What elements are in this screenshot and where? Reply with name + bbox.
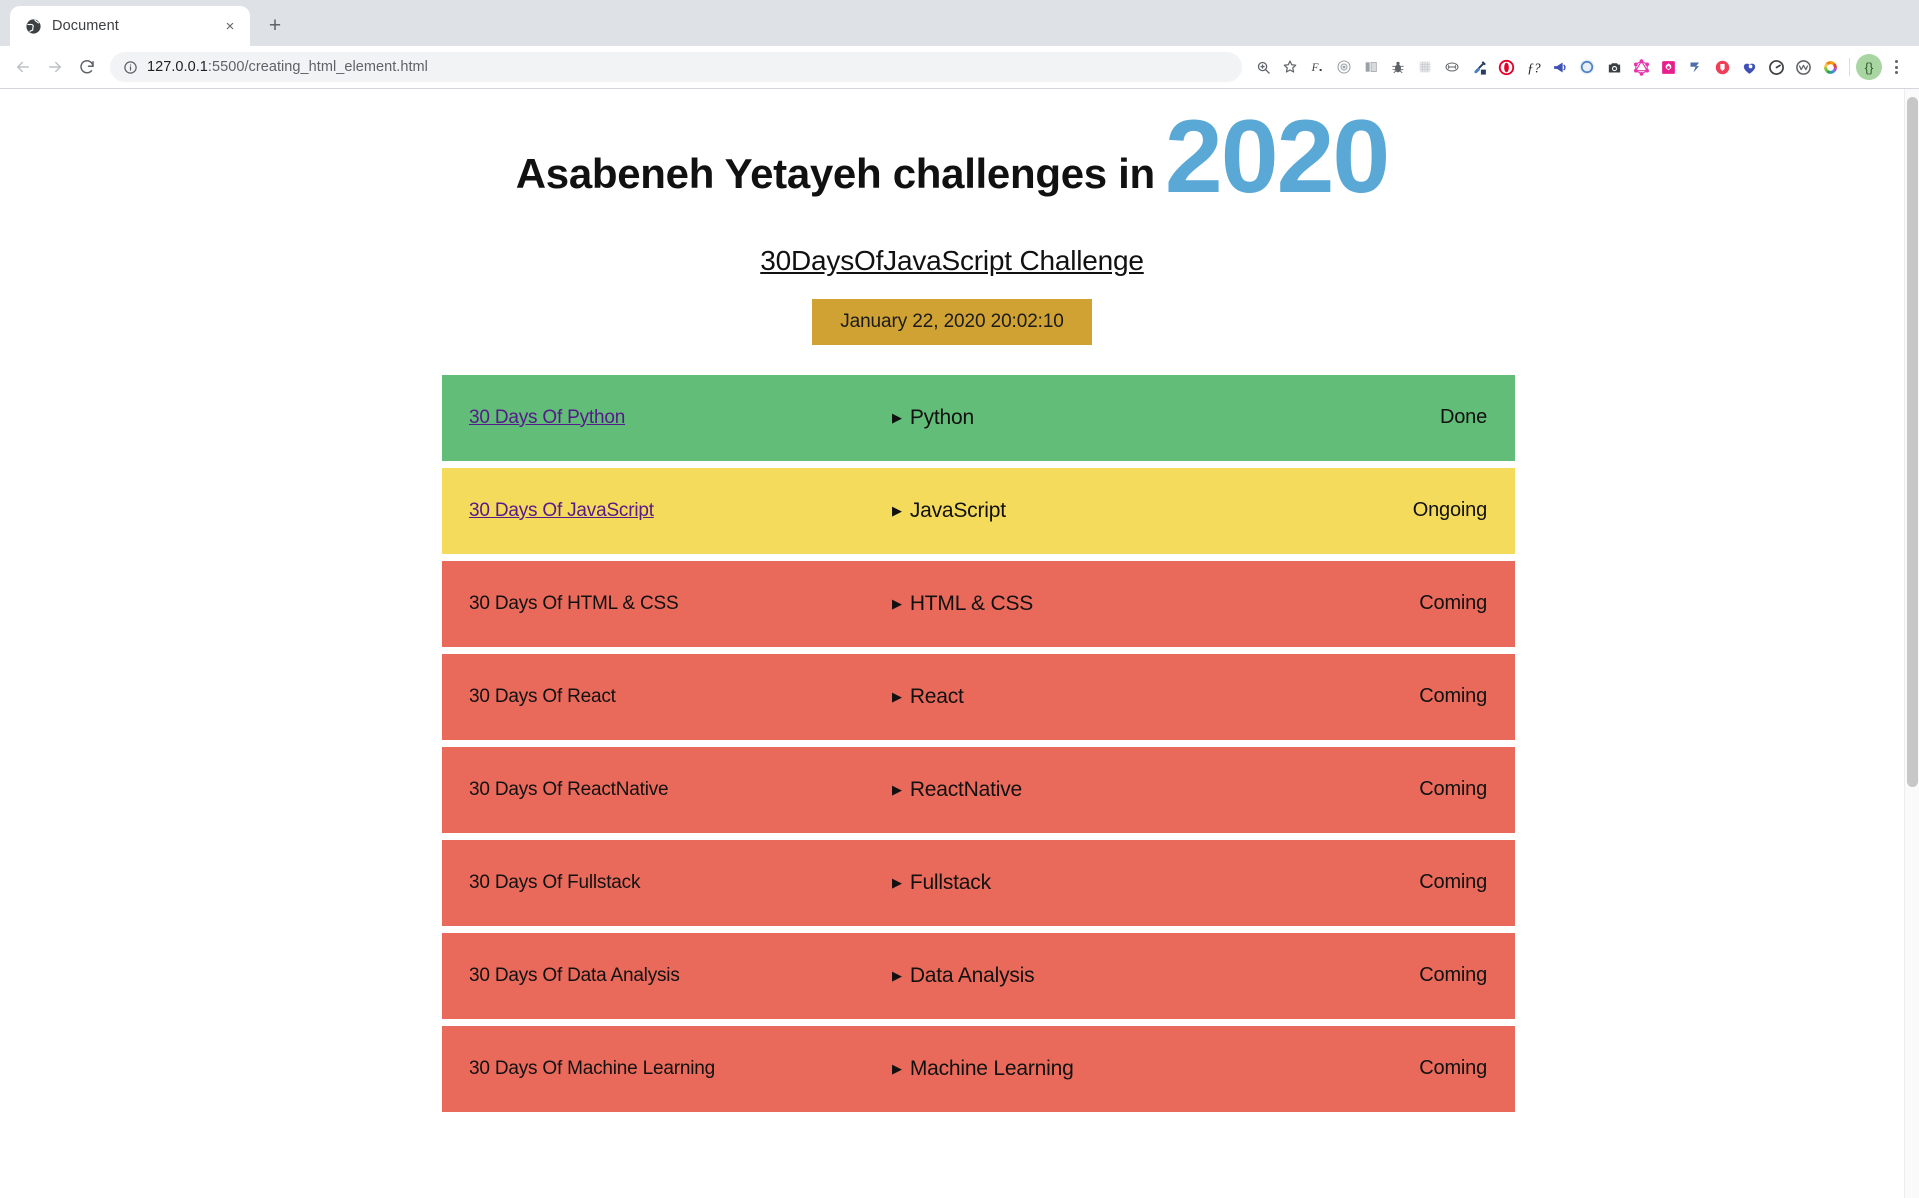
pocket-save-icon[interactable] bbox=[1709, 54, 1735, 80]
bookmark-star-icon[interactable] bbox=[1277, 54, 1303, 80]
grid-pattern-icon[interactable] bbox=[1412, 54, 1438, 80]
page-title-text: Asabeneh Yetayeh challenges in bbox=[516, 153, 1155, 195]
challenge-link[interactable]: 30 Days Of Python bbox=[469, 407, 625, 428]
challenge-topic-label: JavaScript bbox=[910, 499, 1006, 523]
close-icon[interactable]: × bbox=[220, 16, 240, 36]
challenge-topic-details[interactable]: ▶ReactNative bbox=[892, 778, 1315, 802]
scrollbar-thumb[interactable] bbox=[1907, 97, 1918, 787]
challenge-row: 30 Days Of JavaScript▶JavaScriptOngoing bbox=[442, 468, 1515, 554]
challenge-topic-label: HTML & CSS bbox=[910, 592, 1033, 616]
wave-circle-icon[interactable] bbox=[1790, 54, 1816, 80]
challenge-row: 30 Days Of HTML & CSS▶HTML & CSSComing bbox=[442, 561, 1515, 647]
ruler-measure-icon[interactable] bbox=[1439, 54, 1465, 80]
status-badge: Coming bbox=[1315, 778, 1515, 801]
page-title: Asabeneh Yetayeh challenges in2020 bbox=[0, 107, 1904, 201]
status-badge: Coming bbox=[1315, 964, 1515, 987]
svg-text:F: F bbox=[1311, 62, 1320, 74]
status-badge: Ongoing bbox=[1315, 499, 1515, 522]
challenge-row: 30 Days Of Fullstack▶FullstackComing bbox=[442, 840, 1515, 926]
challenge-topic-label: ReactNative bbox=[910, 778, 1022, 802]
megaphone-icon[interactable] bbox=[1547, 54, 1573, 80]
disclosure-triangle-icon[interactable]: ▶ bbox=[892, 876, 902, 889]
function-help-icon[interactable]: ƒ? bbox=[1520, 54, 1546, 80]
tab-strip: Document × + bbox=[0, 0, 1919, 46]
status-badge: Coming bbox=[1315, 685, 1515, 708]
back-button[interactable] bbox=[8, 52, 38, 82]
challenge-row: 30 Days Of Data Analysis▶Data AnalysisCo… bbox=[442, 933, 1515, 1019]
page-title-year: 2020 bbox=[1165, 111, 1388, 205]
address-bar[interactable]: 127.0.0.1:5500/creating_html_element.htm… bbox=[110, 52, 1242, 82]
challenges-page: Asabeneh Yetayeh challenges in2020 30Day… bbox=[0, 89, 1904, 1112]
challenge-row: 30 Days Of Python▶PythonDone bbox=[442, 375, 1515, 461]
svg-text:ƒ?: ƒ? bbox=[1527, 60, 1541, 75]
eye-circle-icon[interactable] bbox=[1574, 54, 1600, 80]
browser-window: Document × + 127.0.0.1:5500/creating_htm… bbox=[0, 0, 1919, 1198]
forward-button[interactable] bbox=[40, 52, 70, 82]
disclosure-triangle-icon[interactable]: ▶ bbox=[892, 783, 902, 796]
heart-search-icon[interactable] bbox=[1736, 54, 1762, 80]
avatar[interactable]: {} bbox=[1856, 54, 1882, 80]
camera-screenshot-icon[interactable] bbox=[1601, 54, 1627, 80]
status-badge: Coming bbox=[1315, 1057, 1515, 1080]
status-badge: Done bbox=[1315, 406, 1515, 429]
date-row: January 22, 2020 20:02:10 bbox=[0, 299, 1904, 345]
browser-toolbar: 127.0.0.1:5500/creating_html_element.htm… bbox=[0, 46, 1919, 88]
challenge-topic-label: Fullstack bbox=[910, 871, 991, 895]
challenge-topic-label: Python bbox=[910, 406, 974, 430]
browser-tab-document[interactable]: Document × bbox=[10, 6, 250, 46]
disclosure-triangle-icon[interactable]: ▶ bbox=[892, 969, 902, 982]
reload-button[interactable] bbox=[72, 52, 102, 82]
disclosure-triangle-icon[interactable]: ▶ bbox=[892, 1062, 902, 1075]
challenge-topic-label: React bbox=[910, 685, 964, 709]
columns-layout-icon[interactable] bbox=[1358, 54, 1384, 80]
url-text: 127.0.0.1:5500/creating_html_element.htm… bbox=[147, 59, 428, 75]
challenge-topic-details[interactable]: ▶JavaScript bbox=[892, 499, 1315, 523]
challenge-name: 30 Days Of Fullstack bbox=[442, 872, 892, 894]
challenge-list: 30 Days Of Python▶PythonDone30 Days Of J… bbox=[0, 375, 1904, 1112]
challenge-row: 30 Days Of React▶ReactComing bbox=[442, 654, 1515, 740]
page-content-area: Asabeneh Yetayeh challenges in2020 30Day… bbox=[0, 89, 1904, 1198]
status-badge: Coming bbox=[1315, 592, 1515, 615]
challenge-name: 30 Days Of HTML & CSS bbox=[442, 593, 892, 615]
status-badge: Coming bbox=[1315, 871, 1515, 894]
eyedropper-icon[interactable] bbox=[1466, 54, 1492, 80]
graphql-icon[interactable] bbox=[1628, 54, 1654, 80]
challenge-topic-details[interactable]: ▶Python bbox=[892, 406, 1315, 430]
challenge-name: 30 Days Of JavaScript bbox=[442, 500, 892, 522]
challenge-topic-details[interactable]: ▶React bbox=[892, 685, 1315, 709]
date-badge: January 22, 2020 20:02:10 bbox=[812, 299, 1092, 345]
challenge-topic-details[interactable]: ▶Machine Learning bbox=[892, 1057, 1315, 1081]
challenge-name: 30 Days Of Machine Learning bbox=[442, 1058, 892, 1080]
three-dot-menu-icon[interactable] bbox=[1883, 54, 1909, 80]
challenge-row: 30 Days Of Machine Learning▶Machine Lear… bbox=[442, 1026, 1515, 1112]
challenge-topic-details[interactable]: ▶Fullstack bbox=[892, 871, 1315, 895]
font-tool-icon[interactable]: F bbox=[1304, 54, 1330, 80]
color-ring-icon[interactable] bbox=[1817, 54, 1843, 80]
challenge-topic-details[interactable]: ▶HTML & CSS bbox=[892, 592, 1315, 616]
bug-tracker-icon[interactable] bbox=[1385, 54, 1411, 80]
challenge-topic-label: Machine Learning bbox=[910, 1057, 1074, 1081]
new-tab-button[interactable]: + bbox=[258, 9, 292, 43]
page-viewport: Asabeneh Yetayeh challenges in2020 30Day… bbox=[0, 88, 1919, 1198]
url-path: :5500/creating_html_element.html bbox=[208, 59, 428, 75]
globe-icon bbox=[24, 17, 42, 35]
info-icon[interactable] bbox=[122, 59, 138, 75]
challenge-topic-details[interactable]: ▶Data Analysis bbox=[892, 964, 1315, 988]
zoom-icon[interactable] bbox=[1250, 54, 1276, 80]
clock-circle-icon[interactable] bbox=[1763, 54, 1789, 80]
challenge-link[interactable]: 30 Days Of JavaScript bbox=[469, 500, 654, 521]
challenge-name: 30 Days Of React bbox=[442, 686, 892, 708]
target-ring-icon[interactable] bbox=[1331, 54, 1357, 80]
toolbar-divider bbox=[1849, 58, 1850, 76]
challenge-name: 30 Days Of Data Analysis bbox=[442, 965, 892, 987]
vertical-scrollbar[interactable] bbox=[1904, 89, 1919, 1198]
page-subtitle: 30DaysOfJavaScript Challenge bbox=[0, 245, 1904, 277]
challenge-row: 30 Days Of ReactNative▶ReactNativeComing bbox=[442, 747, 1515, 833]
challenge-topic-label: Data Analysis bbox=[910, 964, 1035, 988]
url-host: 127.0.0.1 bbox=[147, 59, 208, 75]
challenge-name: 30 Days Of Python bbox=[442, 407, 892, 429]
tab-title: Document bbox=[52, 18, 210, 34]
disclosure-triangle-icon[interactable]: ▶ bbox=[892, 690, 902, 703]
disclosure-triangle-icon[interactable]: ▶ bbox=[892, 411, 902, 424]
challenge-name: 30 Days Of ReactNative bbox=[442, 779, 892, 801]
pink-square-icon[interactable] bbox=[1655, 54, 1681, 80]
opera-stop-icon[interactable] bbox=[1493, 54, 1519, 80]
disclosure-triangle-icon[interactable]: ▶ bbox=[892, 597, 902, 610]
todoist-icon[interactable] bbox=[1682, 54, 1708, 80]
disclosure-triangle-icon[interactable]: ▶ bbox=[892, 504, 902, 517]
extension-tray: F ƒ? bbox=[1250, 54, 1911, 80]
